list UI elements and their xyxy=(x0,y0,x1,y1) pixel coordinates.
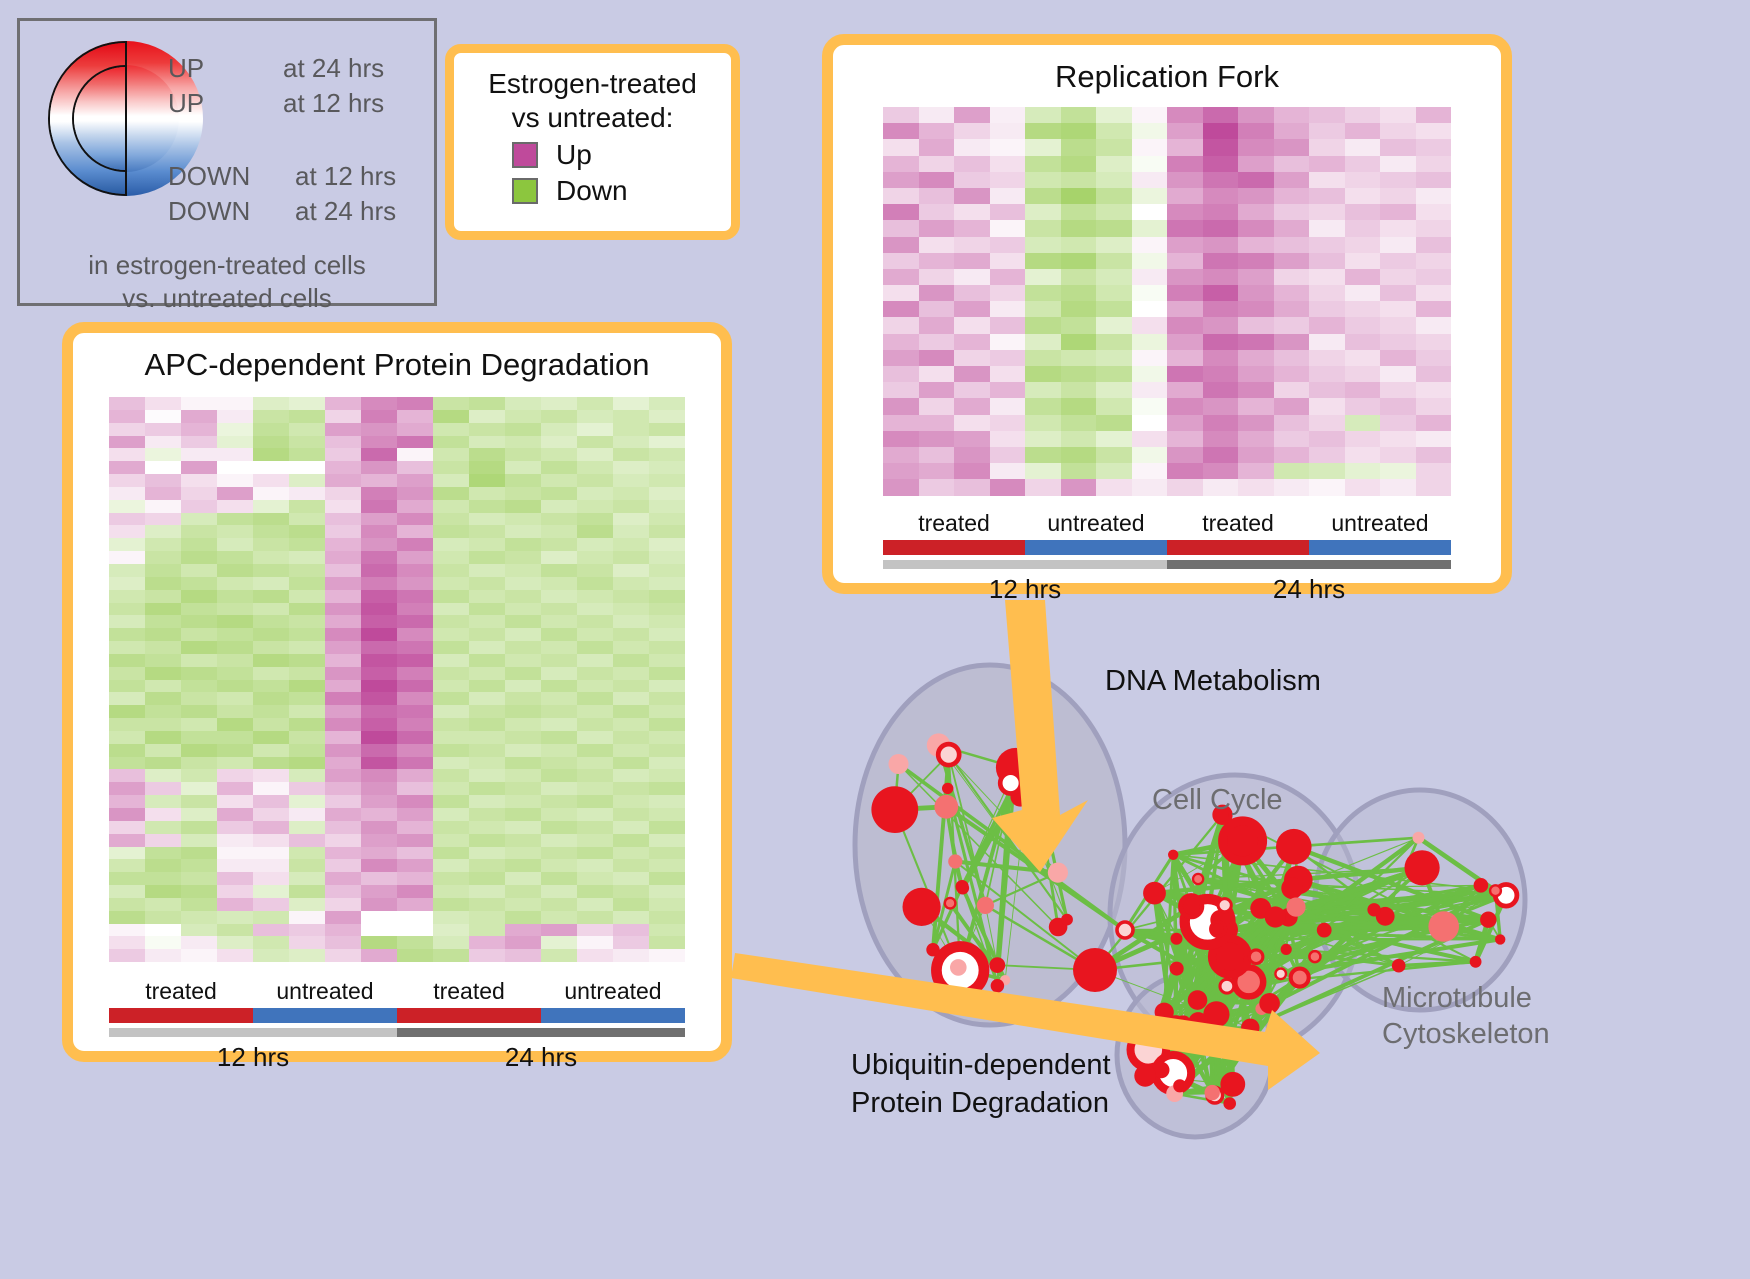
network-node[interactable] xyxy=(1474,878,1489,893)
heatmap-cell xyxy=(1132,123,1168,139)
heatmap-cell xyxy=(433,667,469,680)
ring-time-down-12: at 12 hrs xyxy=(295,161,396,192)
heatmap-cell xyxy=(397,821,433,834)
heatmap-cell xyxy=(469,924,505,937)
network-node[interactable] xyxy=(1181,896,1202,917)
network-node[interactable] xyxy=(1281,944,1292,955)
heatmap-cell xyxy=(361,525,397,538)
heatmap-cell xyxy=(289,795,325,808)
heatmap-cell xyxy=(954,398,990,414)
heatmap-cell xyxy=(1061,431,1097,447)
network-node[interactable] xyxy=(1117,922,1133,938)
heatmap-cell xyxy=(1416,237,1452,253)
heatmap-cell xyxy=(1380,107,1416,123)
network-node[interactable] xyxy=(1211,922,1226,937)
heatmap-cell xyxy=(145,667,181,680)
condition-label-1: untreated xyxy=(253,978,397,1005)
heatmap-cell xyxy=(1061,139,1097,155)
network-node[interactable] xyxy=(1495,934,1505,944)
heatmap-cell xyxy=(109,397,145,410)
heatmap-cell xyxy=(289,641,325,654)
heatmap-cell xyxy=(181,667,217,680)
heatmap-cell xyxy=(1132,156,1168,172)
network-node[interactable] xyxy=(1413,832,1425,844)
heatmap-cell xyxy=(397,911,433,924)
heatmap-cell xyxy=(990,204,1026,220)
heatmap-cell xyxy=(613,654,649,667)
heatmap-cell xyxy=(1132,398,1168,414)
network-node[interactable] xyxy=(1188,990,1208,1010)
heatmap-cell xyxy=(1061,301,1097,317)
heatmap-cell xyxy=(325,500,361,513)
heatmap-cell xyxy=(289,782,325,795)
heatmap-cell xyxy=(109,667,145,680)
heatmap-cell xyxy=(469,782,505,795)
heatmap-cell xyxy=(325,628,361,641)
heatmap-cell xyxy=(1345,237,1381,253)
network-node[interactable] xyxy=(1249,950,1263,964)
heatmap-cell xyxy=(649,590,685,603)
heatmap-cell xyxy=(217,680,253,693)
heatmap-cell xyxy=(1309,220,1345,236)
heatmap-cell xyxy=(325,769,361,782)
heatmap-cell xyxy=(1203,366,1239,382)
heatmap-cell xyxy=(289,744,325,757)
heatmap-cell xyxy=(1096,317,1132,333)
heatmap-cell xyxy=(1238,123,1274,139)
heatmap-cell xyxy=(145,641,181,654)
heatmap-cell xyxy=(433,911,469,924)
heatmap-cell xyxy=(469,936,505,949)
heatmap-cell xyxy=(109,448,145,461)
heatmap-cell xyxy=(1274,253,1310,269)
heatmap-cell xyxy=(1203,188,1239,204)
heatmap-cell xyxy=(1238,463,1274,479)
heatmap-cell xyxy=(649,782,685,795)
heatmap-cell xyxy=(1416,398,1452,414)
network-node[interactable] xyxy=(989,957,1005,973)
heatmap-cell xyxy=(1167,431,1203,447)
network-node[interactable] xyxy=(938,744,959,765)
heatmap-cell xyxy=(954,447,990,463)
heatmap-cell xyxy=(541,705,577,718)
heatmap-cell xyxy=(649,615,685,628)
heatmap-cell xyxy=(253,551,289,564)
heatmap-cell xyxy=(289,487,325,500)
network-node[interactable] xyxy=(1143,882,1166,905)
heatmap-cell xyxy=(361,847,397,860)
heatmap-cell xyxy=(577,423,613,436)
heatmap-cell xyxy=(433,808,469,821)
network-node[interactable] xyxy=(871,786,918,833)
network-node[interactable] xyxy=(1168,850,1178,860)
heatmap-cell xyxy=(541,847,577,860)
network-node[interactable] xyxy=(1061,914,1073,926)
heatmap-cell xyxy=(1274,269,1310,285)
time-labels-apc: 12 hrs24 hrs xyxy=(109,1037,685,1073)
heatmap-cell xyxy=(253,872,289,885)
heatmap-cell xyxy=(181,847,217,860)
network-node[interactable] xyxy=(1286,898,1305,917)
heatmap-cell xyxy=(325,744,361,757)
heatmap-cell xyxy=(1274,350,1310,366)
heatmap-cell xyxy=(217,641,253,654)
heatmap-cell xyxy=(883,463,919,479)
heatmap-cell xyxy=(919,334,955,350)
network-node[interactable] xyxy=(1170,962,1184,976)
heatmap-cell xyxy=(613,782,649,795)
heatmap-cell xyxy=(181,872,217,885)
heatmap-cell xyxy=(1096,220,1132,236)
heatmap-cell xyxy=(1416,447,1452,463)
network-node[interactable] xyxy=(1134,1065,1156,1087)
heatmap-cell xyxy=(1416,301,1452,317)
network-node[interactable] xyxy=(1392,959,1406,973)
heatmap-cell xyxy=(397,847,433,860)
heatmap-cell xyxy=(505,847,541,860)
condition-labels-apc: treateduntreatedtreateduntreated xyxy=(109,978,685,1005)
heatmap-cell xyxy=(1167,463,1203,479)
heatmap-cell xyxy=(577,628,613,641)
heatmap-cell xyxy=(1345,334,1381,350)
heatmap-cell xyxy=(541,513,577,526)
heatmap-cell xyxy=(577,795,613,808)
network-node[interactable] xyxy=(1265,906,1286,927)
heatmap-cell xyxy=(919,172,955,188)
heatmap-cell xyxy=(577,538,613,551)
network-node[interactable] xyxy=(1073,948,1117,992)
ring-caption-line1: in estrogen-treated cells xyxy=(20,249,434,282)
heatmap-cell xyxy=(1061,382,1097,398)
network-node[interactable] xyxy=(1240,1042,1253,1055)
heatmap-cell xyxy=(181,718,217,731)
heatmap-cell xyxy=(1238,317,1274,333)
heatmap-cell xyxy=(1203,317,1239,333)
heatmap-cell xyxy=(1096,398,1132,414)
heatmap-cell xyxy=(361,654,397,667)
heatmap-cell xyxy=(145,487,181,500)
heatmap-cell xyxy=(217,718,253,731)
heatmap-cell xyxy=(954,123,990,139)
heatmap-cell xyxy=(217,577,253,590)
heatmap-cell xyxy=(577,872,613,885)
heatmap-cell xyxy=(469,448,505,461)
heatmap-cell xyxy=(919,415,955,431)
network-node[interactable] xyxy=(1241,1019,1259,1037)
heatmap-cell xyxy=(954,285,990,301)
heatmap-cell xyxy=(505,936,541,949)
heatmap-cell xyxy=(325,564,361,577)
network-node[interactable] xyxy=(934,795,958,819)
condition-label-2: treated xyxy=(1167,510,1309,537)
time-bar-replication xyxy=(883,560,1451,569)
network-node[interactable] xyxy=(1428,911,1459,942)
network-node[interactable] xyxy=(1309,951,1320,962)
network-node[interactable] xyxy=(1220,979,1234,993)
network-node[interactable] xyxy=(1470,956,1482,968)
heatmap-cell xyxy=(1345,479,1381,495)
heatmap-cell xyxy=(325,898,361,911)
heatmap-cell xyxy=(217,538,253,551)
heatmap-cell xyxy=(253,615,289,628)
condition-labels-replication: treateduntreatedtreateduntreated xyxy=(883,510,1451,537)
heatmap-cell xyxy=(649,410,685,423)
heatmap-cell xyxy=(954,220,990,236)
ring-legend-caption: in estrogen-treated cells vs. untreated … xyxy=(20,249,434,315)
heatmap-cell xyxy=(649,577,685,590)
heatmap-cell xyxy=(919,463,955,479)
heatmap-cell xyxy=(649,667,685,680)
heatmap-cell xyxy=(1345,269,1381,285)
network-node[interactable] xyxy=(1276,829,1312,865)
network-node[interactable] xyxy=(1259,993,1280,1014)
heatmap-cell xyxy=(1132,317,1168,333)
network-node[interactable] xyxy=(1000,773,1021,794)
heatmap-cell xyxy=(181,474,217,487)
heatmap-cell xyxy=(1238,139,1274,155)
heatmap-cell xyxy=(1132,431,1168,447)
heatmap-cell xyxy=(613,525,649,538)
heatmap-cell xyxy=(505,564,541,577)
heatmap-cell xyxy=(181,795,217,808)
heatmap-cell xyxy=(990,382,1026,398)
network-node[interactable] xyxy=(956,882,969,895)
heatmap-cell xyxy=(1309,107,1345,123)
heatmap-cell xyxy=(1132,334,1168,350)
time-swatch-24hrs xyxy=(1167,560,1451,569)
heatmap-cell xyxy=(397,423,433,436)
heatmap-cell xyxy=(1132,188,1168,204)
heatmap-cell xyxy=(289,590,325,603)
network-node[interactable] xyxy=(1193,874,1203,884)
heatmap-cell xyxy=(325,654,361,667)
heatmap-cell xyxy=(505,808,541,821)
network-node[interactable] xyxy=(1223,1097,1236,1110)
heatmap-cell xyxy=(181,898,217,911)
heatmap-cell xyxy=(990,447,1026,463)
heatmap-cell xyxy=(217,436,253,449)
network-node[interactable] xyxy=(1174,1080,1185,1091)
heatmap-cell xyxy=(990,139,1026,155)
network-node[interactable] xyxy=(1405,850,1440,885)
heatmap-cell xyxy=(433,577,469,590)
network-node[interactable] xyxy=(889,754,909,774)
heatmap-cell xyxy=(649,821,685,834)
heatmap-cell xyxy=(325,847,361,860)
network-node[interactable] xyxy=(1048,863,1068,883)
network-node[interactable] xyxy=(1490,885,1501,896)
heatmap-cell xyxy=(361,590,397,603)
heatmap-cell xyxy=(181,692,217,705)
heatmap-cell xyxy=(541,474,577,487)
heatmap-cell xyxy=(109,461,145,474)
heatmap-cell xyxy=(1416,479,1452,495)
heatmap-cell xyxy=(469,667,505,680)
heatmap-cell xyxy=(325,577,361,590)
heatmap-cell xyxy=(1309,156,1345,172)
heatmap-cell xyxy=(217,551,253,564)
ring-divider xyxy=(125,41,127,196)
heatmap-cell xyxy=(1203,220,1239,236)
network-node[interactable] xyxy=(942,783,953,794)
heatmap-cell xyxy=(361,718,397,731)
heatmap-cell xyxy=(433,834,469,847)
heatmap-cell xyxy=(613,847,649,860)
heatmap-cell xyxy=(289,898,325,911)
network-node[interactable] xyxy=(1218,899,1231,912)
network-node[interactable] xyxy=(1317,923,1332,938)
heatmap-cell xyxy=(1380,415,1416,431)
heatmap-cell xyxy=(541,821,577,834)
ring-label-down-24: DOWN xyxy=(168,196,250,227)
network-node[interactable] xyxy=(1480,912,1496,928)
heatmap-cell xyxy=(361,705,397,718)
heatmap-cell xyxy=(1167,123,1203,139)
network-node[interactable] xyxy=(1291,969,1309,987)
network-node[interactable] xyxy=(950,959,967,976)
heatmap-cell xyxy=(145,461,181,474)
heatmap-cell xyxy=(325,911,361,924)
heatmap-cell xyxy=(613,731,649,744)
heatmap-cell xyxy=(541,769,577,782)
network-node[interactable] xyxy=(1275,969,1286,980)
heatmap-cell xyxy=(433,410,469,423)
heatmap-cell xyxy=(361,731,397,744)
heatmap-cell xyxy=(1025,366,1061,382)
heatmap-cell xyxy=(577,474,613,487)
network-node[interactable] xyxy=(945,898,956,909)
heatmap-cell xyxy=(1167,237,1203,253)
heatmap-cell xyxy=(1274,156,1310,172)
heatmap-cell xyxy=(289,949,325,962)
ring-caption-line2: vs. untreated cells xyxy=(20,282,434,315)
heatmap-cell xyxy=(1309,269,1345,285)
heatmap-cell xyxy=(649,564,685,577)
heatmap-cell xyxy=(253,641,289,654)
heatmap-cell xyxy=(1274,188,1310,204)
heatmap-cell xyxy=(990,350,1026,366)
network-node[interactable] xyxy=(948,854,962,868)
network-node[interactable] xyxy=(1155,1003,1174,1022)
heatmap-cell xyxy=(469,680,505,693)
time-swatch-12hrs xyxy=(109,1028,397,1037)
heatmap-cell xyxy=(1132,479,1168,495)
heatmap-cell xyxy=(577,461,613,474)
heatmap-cell xyxy=(919,204,955,220)
heatmap-cell xyxy=(613,872,649,885)
heatmap-cell xyxy=(1380,156,1416,172)
heatmap-cell xyxy=(613,423,649,436)
network-node[interactable] xyxy=(1223,1074,1243,1094)
heatmap-cell xyxy=(1203,398,1239,414)
heatmap-cell xyxy=(1274,139,1310,155)
heatmap-cell xyxy=(217,525,253,538)
heatmap-cell xyxy=(1025,415,1061,431)
heatmap-cell xyxy=(289,628,325,641)
network-node[interactable] xyxy=(1189,1012,1208,1031)
network-node[interactable] xyxy=(1171,933,1183,945)
heatmap-cell xyxy=(469,705,505,718)
updown-legend-title: Estrogen-treated vs untreated: xyxy=(464,67,721,135)
heatmap-cell xyxy=(1416,350,1452,366)
network-node[interactable] xyxy=(1367,903,1380,916)
heatmap-cell xyxy=(1380,220,1416,236)
heatmap-cell xyxy=(577,936,613,949)
heatmap-cell xyxy=(613,898,649,911)
heatmap-cell xyxy=(253,628,289,641)
heatmap-cell xyxy=(1309,285,1345,301)
heatmap-cell xyxy=(1061,107,1097,123)
heatmap-cell xyxy=(990,366,1026,382)
heatmap-cell xyxy=(145,397,181,410)
heatmap-cell xyxy=(433,538,469,551)
heatmap-cell xyxy=(109,436,145,449)
heatmap-cell xyxy=(883,188,919,204)
heatmap-cell xyxy=(1061,415,1097,431)
heatmap-cell xyxy=(433,603,469,616)
heatmap-cell xyxy=(397,692,433,705)
heatmap-cell xyxy=(397,782,433,795)
condition-label-0: treated xyxy=(109,978,253,1005)
network-node[interactable] xyxy=(1024,745,1038,759)
network-node[interactable] xyxy=(1205,1085,1220,1100)
heatmap-cell xyxy=(1096,188,1132,204)
network-node[interactable] xyxy=(926,943,939,956)
heatmap-cell xyxy=(1096,350,1132,366)
heatmap-cell xyxy=(1380,479,1416,495)
heatmap-cell xyxy=(145,577,181,590)
heatmap-cell xyxy=(1096,463,1132,479)
heatmap-cell xyxy=(1132,172,1168,188)
heatmap-cell xyxy=(1309,398,1345,414)
network-node[interactable] xyxy=(1281,877,1303,899)
heatmap-cell xyxy=(883,479,919,495)
heatmap-cell xyxy=(1132,220,1168,236)
heatmap-cell xyxy=(1203,334,1239,350)
heatmap-cell xyxy=(1238,237,1274,253)
heatmap-cell xyxy=(505,654,541,667)
network-node[interactable] xyxy=(1223,821,1263,861)
heatmap-cell xyxy=(919,123,955,139)
heatmap-cell xyxy=(1309,447,1345,463)
heatmap-cell xyxy=(577,500,613,513)
heatmap-cell xyxy=(397,513,433,526)
heatmap-cell xyxy=(469,898,505,911)
heatmap-cell xyxy=(1274,415,1310,431)
heatmap-cell xyxy=(1203,415,1239,431)
heatmap-cell xyxy=(217,936,253,949)
heatmap-cell xyxy=(577,577,613,590)
heatmap-cell xyxy=(1238,479,1274,495)
heatmap-cell xyxy=(505,782,541,795)
condition-swatch-1 xyxy=(1025,540,1167,555)
heatmap-cell xyxy=(217,487,253,500)
network-node[interactable] xyxy=(977,897,994,914)
network-node[interactable] xyxy=(903,888,941,926)
network-node[interactable] xyxy=(992,980,1003,991)
heatmap-cell xyxy=(1132,382,1168,398)
heatmap-cell xyxy=(1309,301,1345,317)
heatmap-cell xyxy=(109,603,145,616)
heatmap-cell xyxy=(397,885,433,898)
heatmap-cell xyxy=(1416,139,1452,155)
heatmap-cell xyxy=(505,423,541,436)
heatmap-cell xyxy=(145,628,181,641)
heatmap-cell xyxy=(433,641,469,654)
heatmap-cell xyxy=(289,564,325,577)
heatmap-cell xyxy=(1061,285,1097,301)
heatmap-cell xyxy=(1309,382,1345,398)
